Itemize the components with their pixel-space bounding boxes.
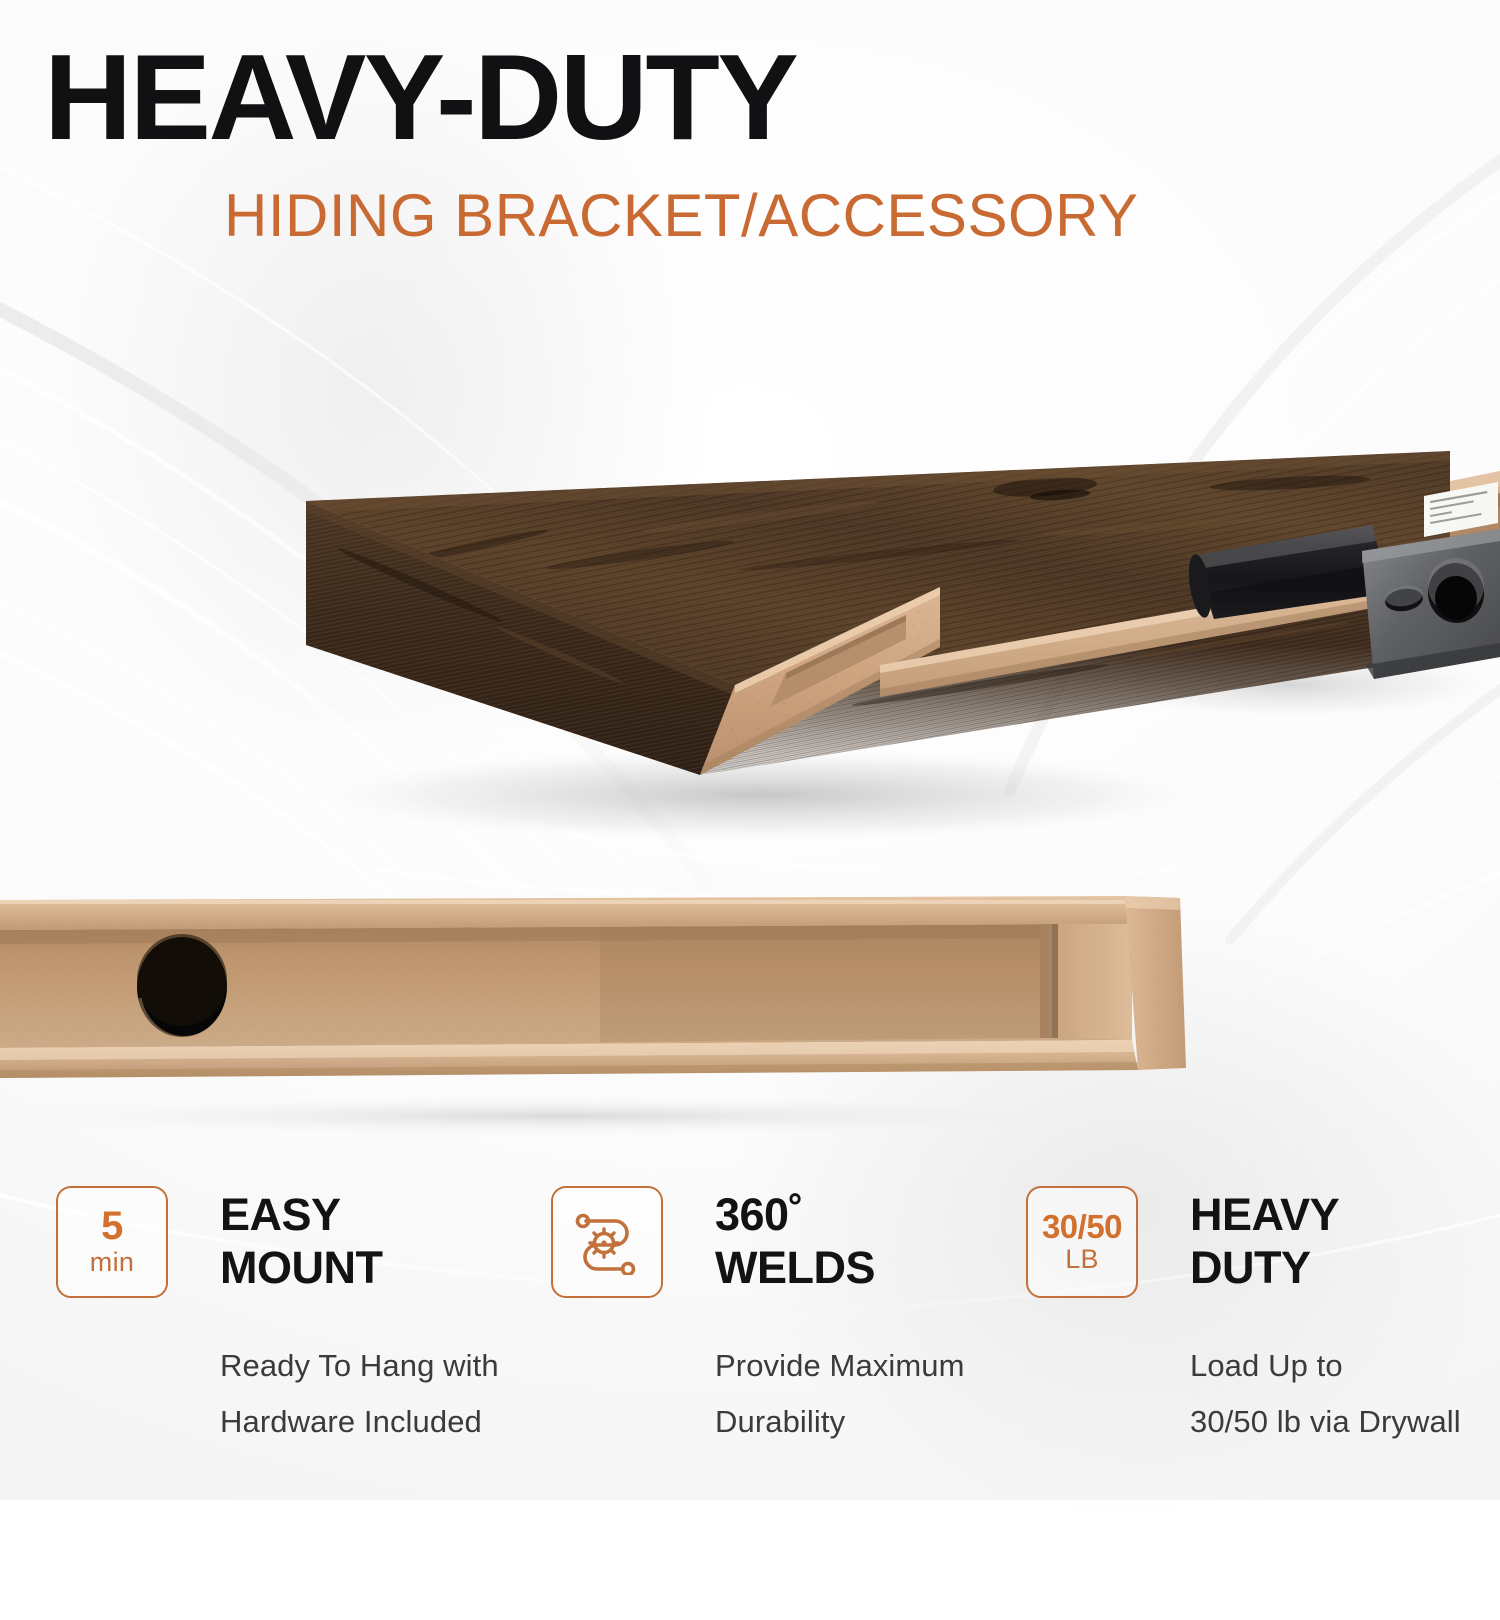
feature-heading: HEAVY DUTY (1190, 1188, 1339, 1294)
feature-description-line1: Load Up to (1190, 1338, 1461, 1394)
feature-description: Load Up to 30/50 lb via Drywall (1190, 1338, 1461, 1450)
badge-unit: LB (1065, 1245, 1099, 1273)
feature-list: 5 min EASY MOUNT Ready To Hang with Hard… (0, 1178, 1500, 1478)
load-capacity-badge: 30/50 LB (1026, 1186, 1138, 1298)
page-title: HEAVY-DUTY (44, 36, 796, 158)
weld-path-gear-icon (551, 1186, 663, 1298)
feature-heading: 360˚ WELDS (715, 1188, 875, 1294)
feature-description: Provide Maximum Durability (715, 1338, 965, 1450)
mdf-channel-cavity (0, 924, 1132, 1048)
badge-value: 30/50 (1042, 1211, 1122, 1243)
feature-heading: EASY MOUNT (220, 1188, 382, 1294)
badge-value: 5 (101, 1207, 123, 1246)
hero-product-image (0, 255, 1500, 855)
mdf-right-end-face (1125, 896, 1186, 1070)
gray-wall-plate (1362, 529, 1500, 679)
clock-5-min-badge: 5 min (56, 1186, 168, 1298)
feature-description-line2: 30/50 lb via Drywall (1190, 1394, 1461, 1450)
badge-unit: min (90, 1248, 134, 1276)
bracket-hole (137, 934, 227, 1037)
page-subtitle: HIDING BRACKET/ACCESSORY (224, 186, 1138, 246)
feature-description: Ready To Hang with Hardware Included (220, 1338, 499, 1450)
mdf-channel-image (0, 880, 1500, 1140)
weld-path-gear-glyph (571, 1209, 643, 1275)
